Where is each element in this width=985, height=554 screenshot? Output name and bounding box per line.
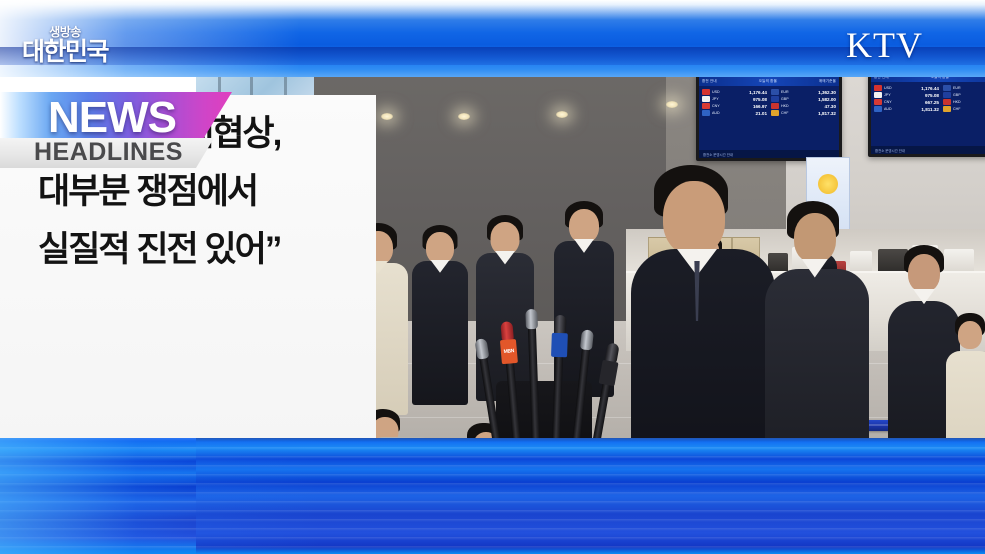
ceiling-light xyxy=(381,113,393,120)
bottom-banner-left-extension xyxy=(0,438,196,554)
live-badge-sub: 생방송 xyxy=(22,26,108,38)
broadcast-frame: 환전 안내 오늘의 환율 매매기준율 USD1,176.44 EUR1,362.… xyxy=(0,0,985,554)
program-title-label: NEWS xyxy=(48,94,176,142)
exchange-rate-board-right: 환전 안내 오늘의 환율 매매기준율 USD1,176.44 EUR1,362.… xyxy=(868,69,985,157)
board-rate-grid: USD1,176.44 EUR1,362.30 JPY975.08 GBP1,5… xyxy=(871,82,985,115)
board-footer: 환전소 운영시간 안내 xyxy=(871,146,985,154)
live-broadcast-badge: 생방송 대한민국 xyxy=(22,26,108,65)
live-badge-main: 대한민국 xyxy=(22,40,108,65)
bystander xyxy=(410,225,470,405)
program-title-bar: NEWS HEADLINES xyxy=(0,92,232,172)
program-subtitle-label: HEADLINES xyxy=(34,137,183,167)
board-header: 환전 안내 오늘의 환율 매매기준율 xyxy=(699,76,839,86)
banner-stripe xyxy=(0,47,985,65)
ceiling-light xyxy=(556,111,568,118)
program-subtitle-bar: HEADLINES xyxy=(0,138,214,168)
ceiling-light xyxy=(458,113,470,120)
mic-flag-label: MBN xyxy=(500,339,518,364)
top-banner: 생방송 대한민국 KTV xyxy=(0,0,985,77)
banner-glow xyxy=(0,438,196,554)
program-title-news: NEWS xyxy=(0,92,232,144)
mic-flag-label xyxy=(551,333,568,358)
exchange-rate-board-left: 환전 안내 오늘의 환율 매매기준율 USD1,176.44 EUR1,362.… xyxy=(696,73,842,161)
channel-logo: KTV xyxy=(846,24,923,66)
ceiling-light xyxy=(666,101,678,108)
board-rate-grid: USD1,176.44 EUR1,362.30 JPY975.08 GBP1,5… xyxy=(699,86,839,119)
